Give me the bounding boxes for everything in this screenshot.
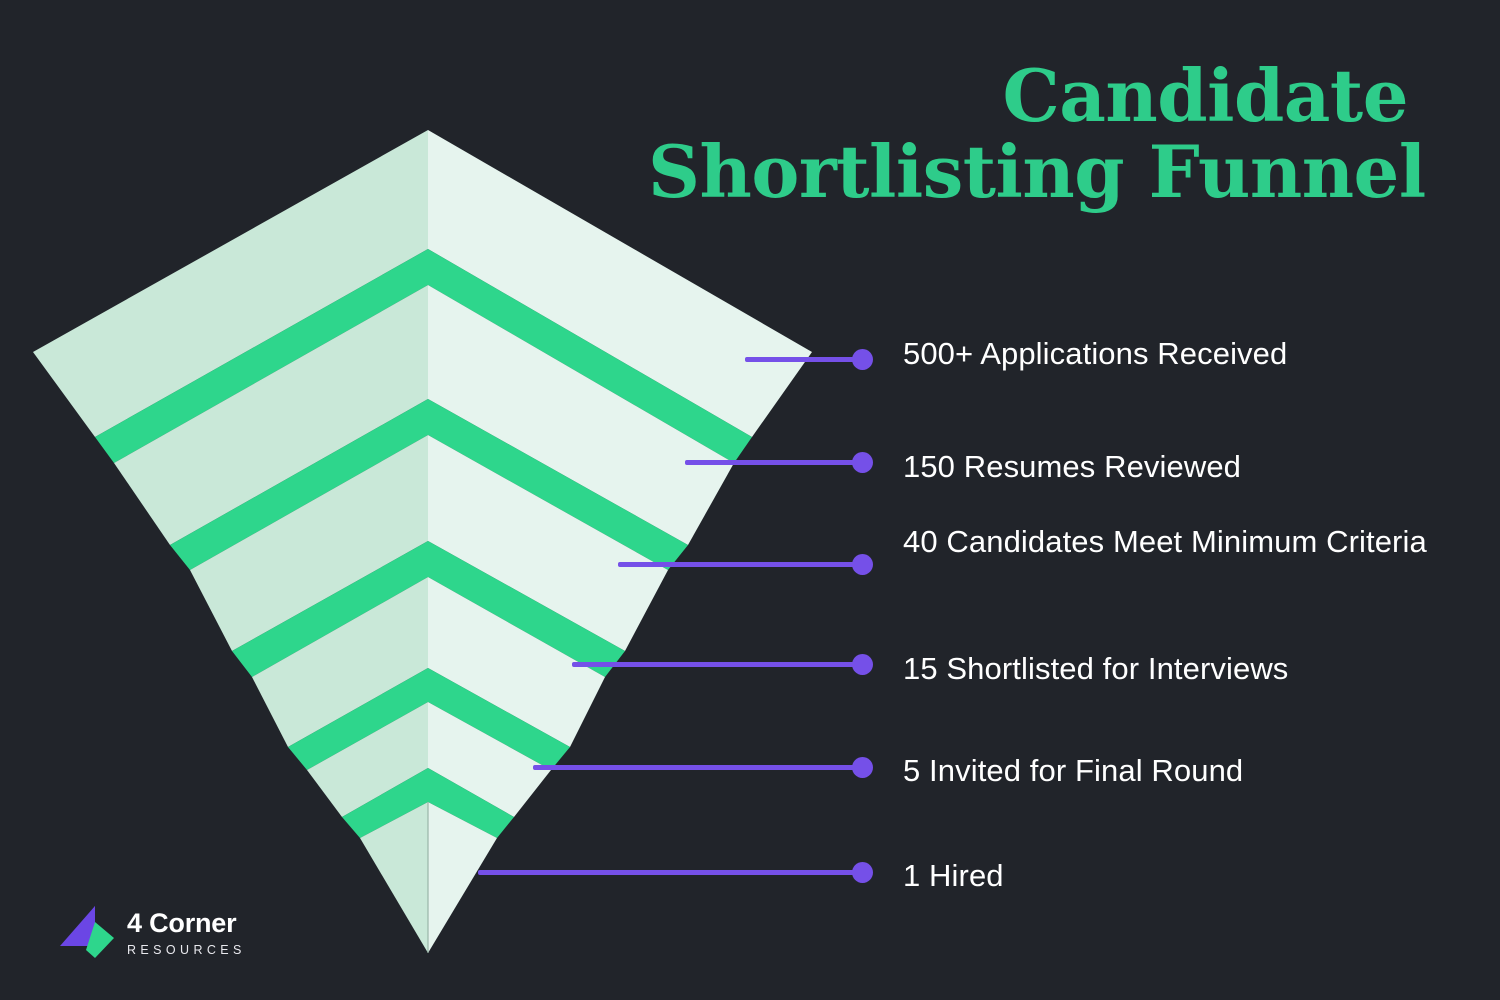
logo-green-triangle — [95, 922, 114, 958]
funnel-segment-3-band-left — [232, 541, 428, 677]
funnel-segment-5-left-face — [307, 702, 428, 817]
funnel-segment-5-right-face — [428, 702, 551, 817]
logo-subtitle: RESOURCES — [127, 943, 246, 957]
funnel-segment-2-right-face — [428, 285, 734, 545]
funnel-segment-2-band-left — [170, 399, 428, 570]
funnel-stage-label: 40 Candidates Meet Minimum Criteria — [903, 522, 1448, 562]
funnel-segment-3-band-right — [428, 541, 625, 677]
funnel-segment-3-left-face — [190, 435, 428, 651]
connector-dot — [852, 452, 873, 473]
funnel-segment-2-band-right — [428, 399, 688, 570]
funnel-segment-2 — [114, 285, 734, 570]
funnel-segment-4-left-face — [252, 577, 428, 747]
connector-line — [618, 562, 862, 567]
funnel-stage-label: 150 Resumes Reviewed — [903, 447, 1448, 487]
funnel-segment-3-right-face — [428, 435, 668, 651]
funnel-segment-5-band-right — [428, 768, 514, 838]
funnel-segment-2-left-face — [114, 285, 428, 545]
title-line-2: Shortlisting Funnel — [648, 134, 1408, 210]
logo-name: 4 Corner — [127, 909, 246, 937]
infographic-canvas: Candidate Shortlisting Funnel 500+ Appli… — [0, 0, 1500, 1000]
funnel-segment-1-left-face — [33, 130, 428, 437]
title-line-1: Candidate — [648, 58, 1408, 134]
connector-line — [572, 662, 862, 667]
funnel-segment-4-band-right — [428, 668, 570, 770]
funnel-segment-1-band-right — [428, 249, 752, 463]
funnel-segment-6-right-face — [428, 802, 497, 953]
connector-dot — [852, 757, 873, 778]
funnel-segment-5-band-left — [342, 768, 428, 838]
funnel-segment-3 — [190, 435, 668, 677]
funnel-segment-6-left-face — [360, 802, 428, 953]
connector-line — [685, 460, 862, 465]
page-title: Candidate Shortlisting Funnel — [648, 58, 1408, 211]
connector-dot — [852, 862, 873, 883]
funnel-stage-label: 15 Shortlisted for Interviews — [903, 649, 1448, 689]
connector-dot — [852, 349, 873, 370]
four-corner-logo-icon — [58, 904, 114, 962]
brand-logo: 4 Corner RESOURCES — [58, 904, 246, 962]
funnel-stage-label: 5 Invited for Final Round — [903, 751, 1448, 791]
logo-wordmark: 4 Corner RESOURCES — [127, 909, 246, 956]
connector-dot — [852, 654, 873, 675]
funnel-segment-4-band-left — [288, 668, 428, 770]
funnel-segment-1-band-left — [95, 249, 428, 463]
funnel-segment-5 — [307, 702, 551, 838]
connector-line — [745, 357, 862, 362]
funnel-segment-6 — [360, 802, 497, 953]
connector-line — [478, 870, 862, 875]
funnel-stage-label: 1 Hired — [903, 856, 1448, 896]
funnel-segment-4 — [252, 577, 605, 770]
connector-dot — [852, 554, 873, 575]
connector-line — [533, 765, 862, 770]
funnel-stage-label: 500+ Applications Received — [903, 334, 1448, 374]
